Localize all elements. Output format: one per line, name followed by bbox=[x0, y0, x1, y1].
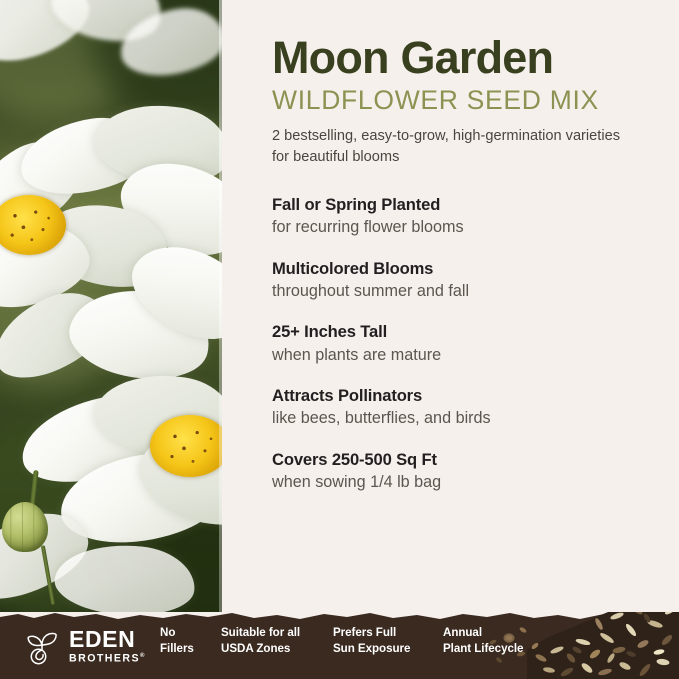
feature-description: throughout summer and fall bbox=[272, 282, 667, 302]
brand-name: EDEN bbox=[69, 628, 146, 651]
seedling-icon bbox=[22, 626, 62, 666]
feature-item: Attracts Pollinators like bees, butterfl… bbox=[272, 386, 667, 429]
feature-title: Attracts Pollinators bbox=[272, 386, 667, 406]
feature-title: Covers 250-500 Sq Ft bbox=[272, 450, 667, 470]
product-title: Moon Garden bbox=[272, 35, 662, 82]
flower-photo bbox=[0, 0, 222, 617]
feature-description: when plants are mature bbox=[272, 346, 667, 366]
feature-title: 25+ Inches Tall bbox=[272, 322, 667, 342]
footer-attribute: Prefers Full Sun Exposure bbox=[333, 625, 410, 658]
footer-attribute-line1: Prefers Full bbox=[333, 625, 410, 641]
product-lede: 2 bestselling, easy-to-grow, high-germin… bbox=[272, 126, 624, 167]
feature-title: Fall or Spring Planted bbox=[272, 195, 667, 215]
feature-item: Fall or Spring Planted for recurring flo… bbox=[272, 195, 667, 238]
footer-attribute-line1: Annual bbox=[443, 625, 523, 641]
brand-wordmark: EDEN BROTHERS® bbox=[69, 628, 146, 664]
feature-description: for recurring flower blooms bbox=[272, 218, 667, 238]
feature-item: Covers 250-500 Sq Ft when sowing 1/4 lb … bbox=[272, 450, 667, 493]
footer-attribute-line2: Fillers bbox=[160, 641, 194, 657]
title-block: Moon Garden WILDFLOWER SEED MIX 2 bestse… bbox=[272, 35, 662, 168]
feature-list: Fall or Spring Planted for recurring flo… bbox=[272, 195, 667, 493]
content-panel: Moon Garden WILDFLOWER SEED MIX 2 bestse… bbox=[222, 0, 679, 617]
footer-attribute: Suitable for all USDA Zones bbox=[221, 625, 300, 658]
feature-description: like bees, butterflies, and birds bbox=[272, 409, 667, 429]
torn-edge-icon bbox=[0, 612, 679, 625]
feature-title: Multicolored Blooms bbox=[272, 259, 667, 279]
feature-item: 25+ Inches Tall when plants are mature bbox=[272, 322, 667, 365]
footer-attribute-line1: Suitable for all bbox=[221, 625, 300, 641]
footer-bar: EDEN BROTHERS® bbox=[0, 612, 679, 679]
product-infographic: Moon Garden WILDFLOWER SEED MIX 2 bestse… bbox=[0, 0, 679, 679]
feature-description: when sowing 1/4 lb bag bbox=[272, 473, 667, 493]
product-subtitle: WILDFLOWER SEED MIX bbox=[272, 86, 662, 116]
footer-attribute-line2: USDA Zones bbox=[221, 641, 300, 657]
feature-item: Multicolored Blooms throughout summer an… bbox=[272, 259, 667, 302]
footer-attribute-line2: Sun Exposure bbox=[333, 641, 410, 657]
brand-subname: BROTHERS® bbox=[69, 653, 146, 664]
footer-attribute-line1: No bbox=[160, 625, 194, 641]
trademark-symbol: ® bbox=[140, 653, 146, 659]
footer-attribute-line2: Plant Lifecycle bbox=[443, 641, 523, 657]
brand-subname-text: BROTHERS bbox=[69, 652, 140, 664]
footer-attribute: No Fillers bbox=[160, 625, 194, 658]
brand-logo: EDEN BROTHERS® bbox=[22, 626, 146, 666]
footer-attribute: Annual Plant Lifecycle bbox=[443, 625, 523, 658]
